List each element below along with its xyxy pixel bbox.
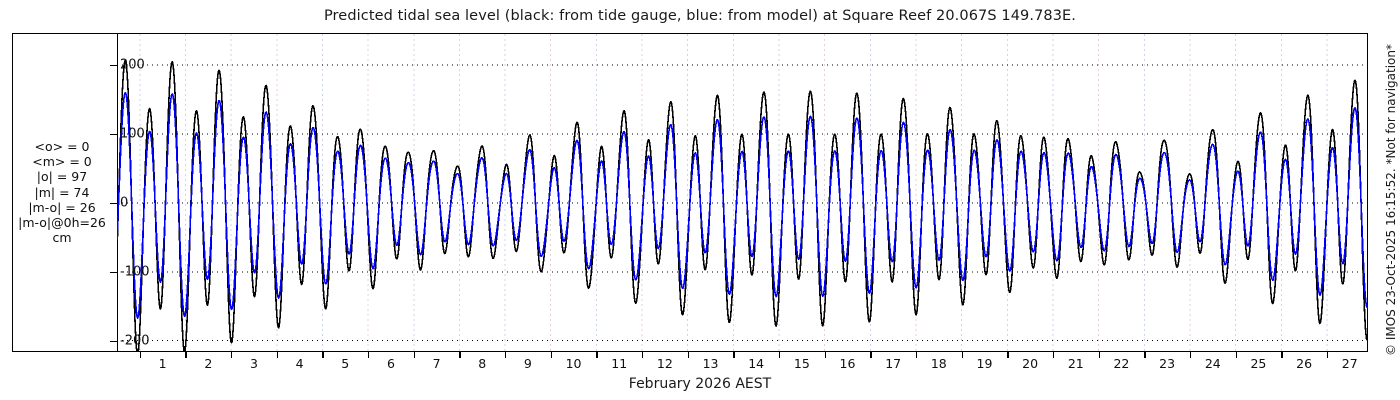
x-tick-label: 2	[204, 356, 212, 371]
x-tick-mark	[322, 351, 323, 358]
statistics-block: <o> = 0 <m> = 0 |o| = 97 |m| = 74 |m-o| …	[6, 139, 118, 245]
x-tick-label: 10	[566, 356, 582, 371]
x-tick-label: 5	[341, 356, 349, 371]
x-tick-mark	[825, 351, 826, 358]
x-tick-label: 4	[296, 356, 304, 371]
x-tick-mark	[962, 351, 963, 358]
x-tick-mark	[916, 351, 917, 358]
x-tick-label: 22	[1113, 356, 1129, 371]
tide-series-model	[117, 93, 1368, 318]
x-tick-mark	[870, 351, 871, 358]
x-tick-mark	[1281, 351, 1282, 358]
x-tick-mark	[414, 351, 415, 358]
x-tick-mark	[459, 351, 460, 358]
x-tick-label: 13	[703, 356, 719, 371]
x-tick-label: 24	[1205, 356, 1221, 371]
x-tick-mark	[596, 351, 597, 358]
x-tick-mark	[231, 351, 232, 358]
x-tick-label: 17	[885, 356, 901, 371]
x-tick-label: 25	[1250, 356, 1266, 371]
x-tick-label: 19	[977, 356, 993, 371]
y-tick-mark	[110, 272, 117, 273]
x-tick-label: 8	[478, 356, 486, 371]
copyright-text: © IMOS 23-Oct-2025 16:15:52. *Not for na…	[1384, 44, 1398, 356]
stat-units: cm	[6, 230, 118, 245]
chart-title: Predicted tidal sea level (black: from t…	[0, 8, 1400, 24]
x-tick-mark	[368, 351, 369, 358]
stat-abs-difference: |m-o| = 26	[6, 200, 118, 215]
x-tick-mark	[1053, 351, 1054, 358]
stat-mean-observed: <o> = 0	[6, 139, 118, 154]
tide-series-svg	[117, 34, 1368, 351]
stat-mean-model: <m> = 0	[6, 154, 118, 169]
x-tick-mark	[1236, 351, 1237, 358]
x-tick-label: 6	[387, 356, 395, 371]
stat-abs-difference-at-0h: |m-o|@0h=26	[6, 215, 118, 230]
y-tick-mark	[110, 65, 117, 66]
x-tick-label: 23	[1159, 356, 1175, 371]
y-tick-mark	[110, 203, 117, 204]
tide-series-gauge	[117, 60, 1368, 351]
x-tick-mark	[1007, 351, 1008, 358]
x-tick-mark	[642, 351, 643, 358]
y-tick-label: 200	[120, 58, 145, 73]
x-tick-label: 27	[1342, 356, 1358, 371]
y-tick-label: -100	[120, 264, 150, 279]
x-tick-mark	[277, 351, 278, 358]
stat-abs-observed: |o| = 97	[6, 169, 118, 184]
x-tick-label: 3	[250, 356, 258, 371]
plot-canvas-container	[117, 34, 1368, 351]
y-tick-label: 0	[120, 195, 128, 210]
x-tick-label: 11	[611, 356, 627, 371]
x-tick-mark	[779, 351, 780, 358]
y-tick-label: -200	[120, 333, 150, 348]
x-tick-label: 18	[931, 356, 947, 371]
y-tick-mark	[110, 134, 117, 135]
x-tick-label: 12	[657, 356, 673, 371]
x-tick-mark	[140, 351, 141, 358]
x-tick-label: 15	[794, 356, 810, 371]
x-tick-label: 21	[1068, 356, 1084, 371]
stat-abs-model: |m| = 74	[6, 185, 118, 200]
x-tick-label: 20	[1022, 356, 1038, 371]
x-tick-mark	[551, 351, 552, 358]
x-tick-mark	[688, 351, 689, 358]
x-tick-label: 9	[524, 356, 532, 371]
x-tick-label: 7	[433, 356, 441, 371]
x-tick-mark	[733, 351, 734, 358]
plot-area	[117, 34, 1368, 351]
x-axis-title: February 2026 AEST	[0, 376, 1400, 392]
x-tick-mark	[1327, 351, 1328, 358]
copyright-container: © IMOS 23-Oct-2025 16:15:52. *Not for na…	[1381, 0, 1400, 400]
x-tick-mark	[1190, 351, 1191, 358]
x-tick-mark	[505, 351, 506, 358]
x-tick-label: 1	[159, 356, 167, 371]
x-tick-label: 14	[748, 356, 764, 371]
x-tick-mark	[185, 351, 186, 358]
y-tick-mark	[110, 341, 117, 342]
x-tick-mark	[1099, 351, 1100, 358]
x-tick-label: 26	[1296, 356, 1312, 371]
x-tick-label: 16	[840, 356, 856, 371]
y-tick-label: 100	[120, 126, 145, 141]
x-tick-mark	[1144, 351, 1145, 358]
